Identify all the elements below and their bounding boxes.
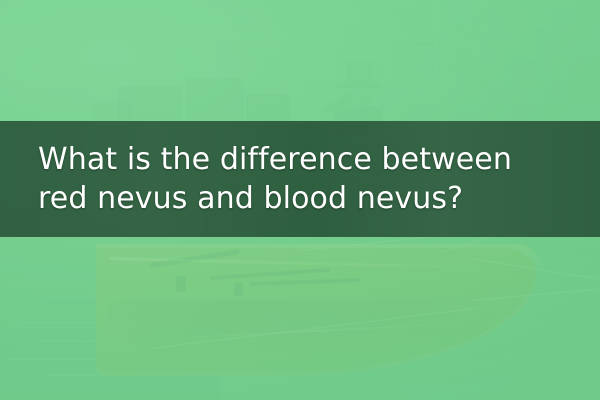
question-image-card: What is the difference between red nevus… [0, 0, 600, 400]
question-title: What is the difference between red nevus… [38, 140, 583, 218]
caption-band: What is the difference between red nevus… [0, 121, 600, 237]
